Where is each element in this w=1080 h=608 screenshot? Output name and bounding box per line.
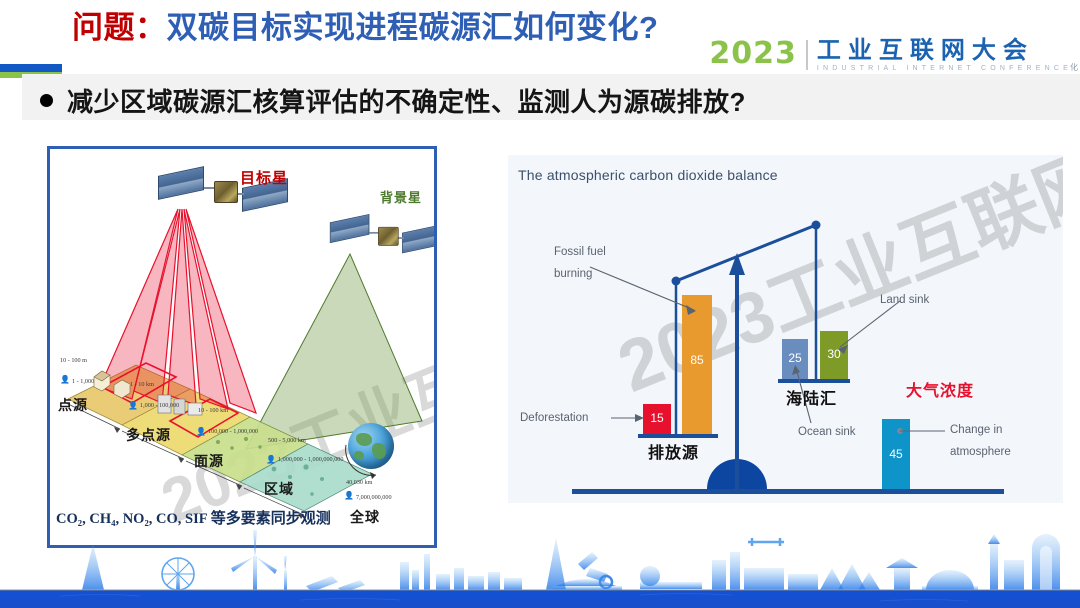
bullet-line: 减少区域碳源汇核算评估的不确定性、监测人为源碳排放? [40,82,746,119]
bar-value-fossil-fuel: 85 [682,353,712,367]
annotation-fossil-fuel-line2: burning [554,267,592,282]
scale-name-3: 区域 [264,479,294,499]
scale-people-1: 1,000 - 100,000 [140,402,196,410]
annotation-deforestation: Deforestation [520,411,588,426]
annotation-change-atmosphere-line2: atmosphere [950,445,1011,460]
satellite-background-icon [330,215,426,261]
bullet-band: 减少区域碳源汇核算评估的不确定性、监测人为源碳排放? [0,64,1080,120]
scale-people-2: 100,000 - 1,000,000 [208,428,270,436]
group-label-emission: 排放源 [648,439,699,463]
annotation-change-atmosphere-line1: Change in [950,423,1002,438]
label-background-satellite: 背景星 [380,187,422,206]
slide-root: 问题：双碳目标实现进程碳源汇如何变化? 2023 工业互联网大会 INDUSTR… [0,0,1080,608]
scale-name-2: 面源 [194,451,224,471]
bar-value-atmosphere: 45 [882,447,910,461]
title-prefix: 问题： [72,10,167,45]
carbon-balance-figure: 2023工业互联网大会 The atmospheric carbon dioxi… [508,155,1063,503]
scale-people-3: 1,000,000 - 1,000,000,000 [278,456,352,464]
page-title: 问题：双碳目标实现进程碳源汇如何变化? [72,8,658,48]
person-icon-4: 👤 [344,491,354,500]
person-icon-3: 👤 [266,455,276,464]
annotation-ocean-sink: Ocean sink [798,425,856,440]
title-main: 双碳目标实现进程碳源汇如何变化? [167,10,659,45]
bar-value-deforestation: 15 [643,411,671,425]
person-icon-2: 👤 [196,427,206,436]
satellite-observation-figure: 2023工业互联网大会 [47,146,437,548]
bar-value-ocean-sink: 25 [782,351,808,365]
bar-value-land-sink: 30 [820,347,848,361]
person-icon-0: 👤 [60,375,70,384]
accent-bar-blue [0,64,62,72]
footer-skyline-svg [0,516,1080,608]
scale-size-4: 40,030 km [346,479,372,487]
scale-people-4: 7,000,000,000 [356,494,392,502]
scale-size-1: 1 - 10 km [130,381,154,389]
label-target-satellite: 目标星 [240,167,288,188]
scale-size-0: 10 - 100 m [60,357,87,365]
group-label-atmosphere: 大气浓度 [906,377,974,401]
scale-name-1: 多点源 [126,425,171,445]
bullet-dot-icon [40,94,53,107]
footer-skyline [0,516,1080,608]
scale-name-0: 点源 [58,395,88,415]
bullet-text: 减少区域碳源汇核算评估的不确定性、监测人为源碳排放? [67,82,746,119]
person-icon-1: 👤 [128,401,138,410]
annotation-land-sink: Land sink [880,293,929,308]
scale-size-2: 10 - 100 km [198,407,228,415]
scale-size-3: 500 - 5,000 km [268,437,306,445]
scale-people-0: 1 - 1,000 [72,378,94,386]
group-label-sinks: 海陆汇 [786,385,837,409]
globe-icon [348,423,394,469]
logo-title-cn: 工业互联网大会 [817,38,1072,64]
annotation-fossil-fuel-line1: Fossil fuel [554,245,606,260]
